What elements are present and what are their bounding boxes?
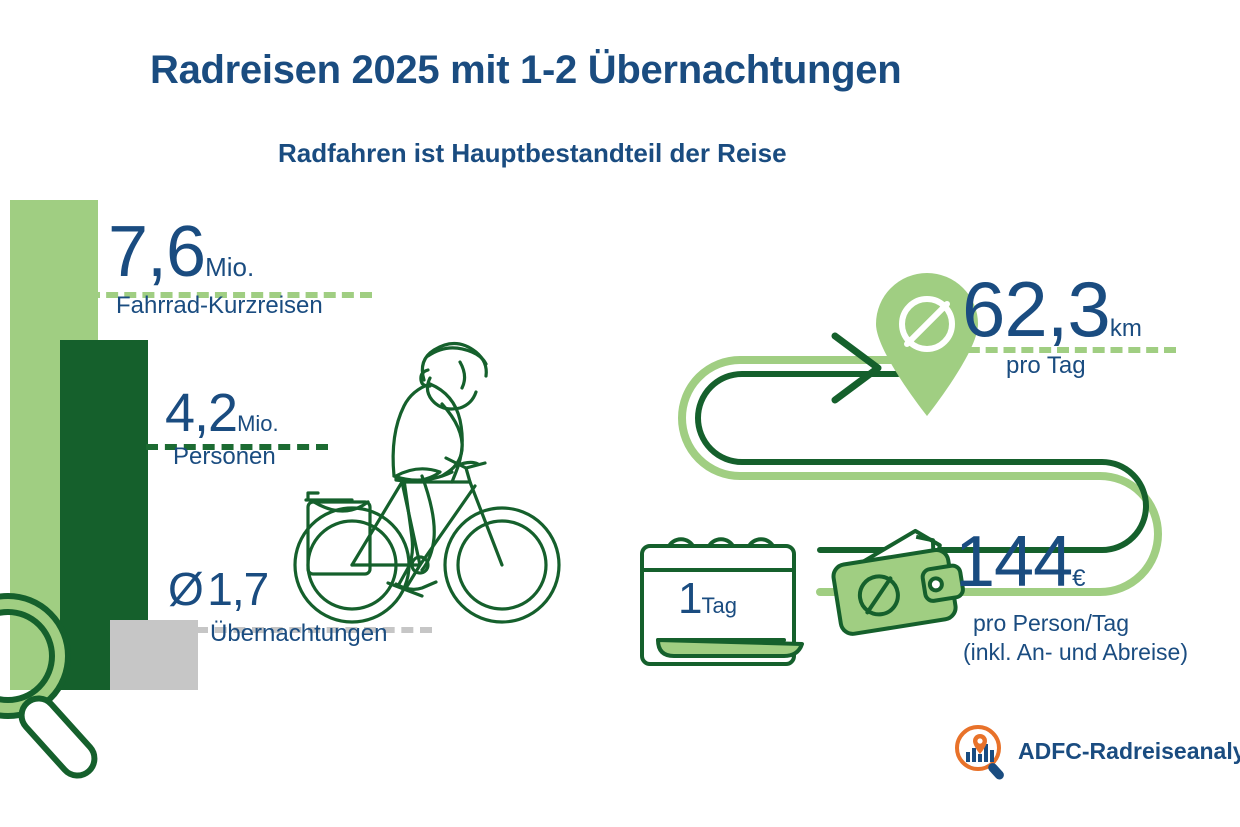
stat-unit-kurzreisen: Mio. (205, 252, 254, 282)
infographic-canvas: Radreisen 2025 mit 1-2 Übernachtungen Ra… (0, 0, 1240, 827)
stat-caption-kosten-line1: pro Person/Tag (973, 610, 1188, 637)
page-subtitle: Radfahren ist Hauptbestandteil der Reise (278, 138, 1098, 169)
stat-value-kosten: 144 (955, 522, 1072, 602)
cyclist-illustration (270, 300, 570, 660)
stat-unit-dauer: Tag (701, 593, 736, 618)
page-title: Radreisen 2025 mit 1-2 Übernachtungen (150, 48, 1050, 93)
magnifier-icon (0, 588, 130, 768)
stat-value-uebernachtungen: 1,7 (207, 563, 268, 615)
adfc-magnifier-chart-icon (952, 722, 1010, 780)
stat-unit-kosten: € (1072, 565, 1085, 592)
stat-caption-km: pro Tag (1006, 352, 1142, 380)
logo-text: ADFC-Radreiseanalyse (1018, 738, 1240, 765)
stat-dauer: 1Tag (678, 578, 737, 620)
stat-km-pro-tag: 62,3km pro Tag (962, 272, 1142, 380)
stat-value-personen: 4,2 (165, 383, 237, 443)
stat-value-dauer: 1 (678, 574, 701, 623)
stat-kosten: 144€ pro Person/Tag (inkl. An- und Abrei… (955, 528, 1188, 666)
stat-value-kurzreisen: 7,6 (108, 212, 205, 292)
stat-caption-personen: Personen (173, 443, 279, 471)
stat-caption-kosten-line2: (inkl. An- und Abreise) (963, 639, 1188, 666)
adfc-logo: ADFC-Radreiseanalyse (952, 722, 1240, 780)
stat-personen: 4,2Mio. Personen (165, 388, 279, 471)
stat-unit-km: km (1110, 315, 1142, 342)
stat-value-km: 62,3 (962, 265, 1110, 353)
average-symbol-icon: Ø (168, 563, 203, 615)
